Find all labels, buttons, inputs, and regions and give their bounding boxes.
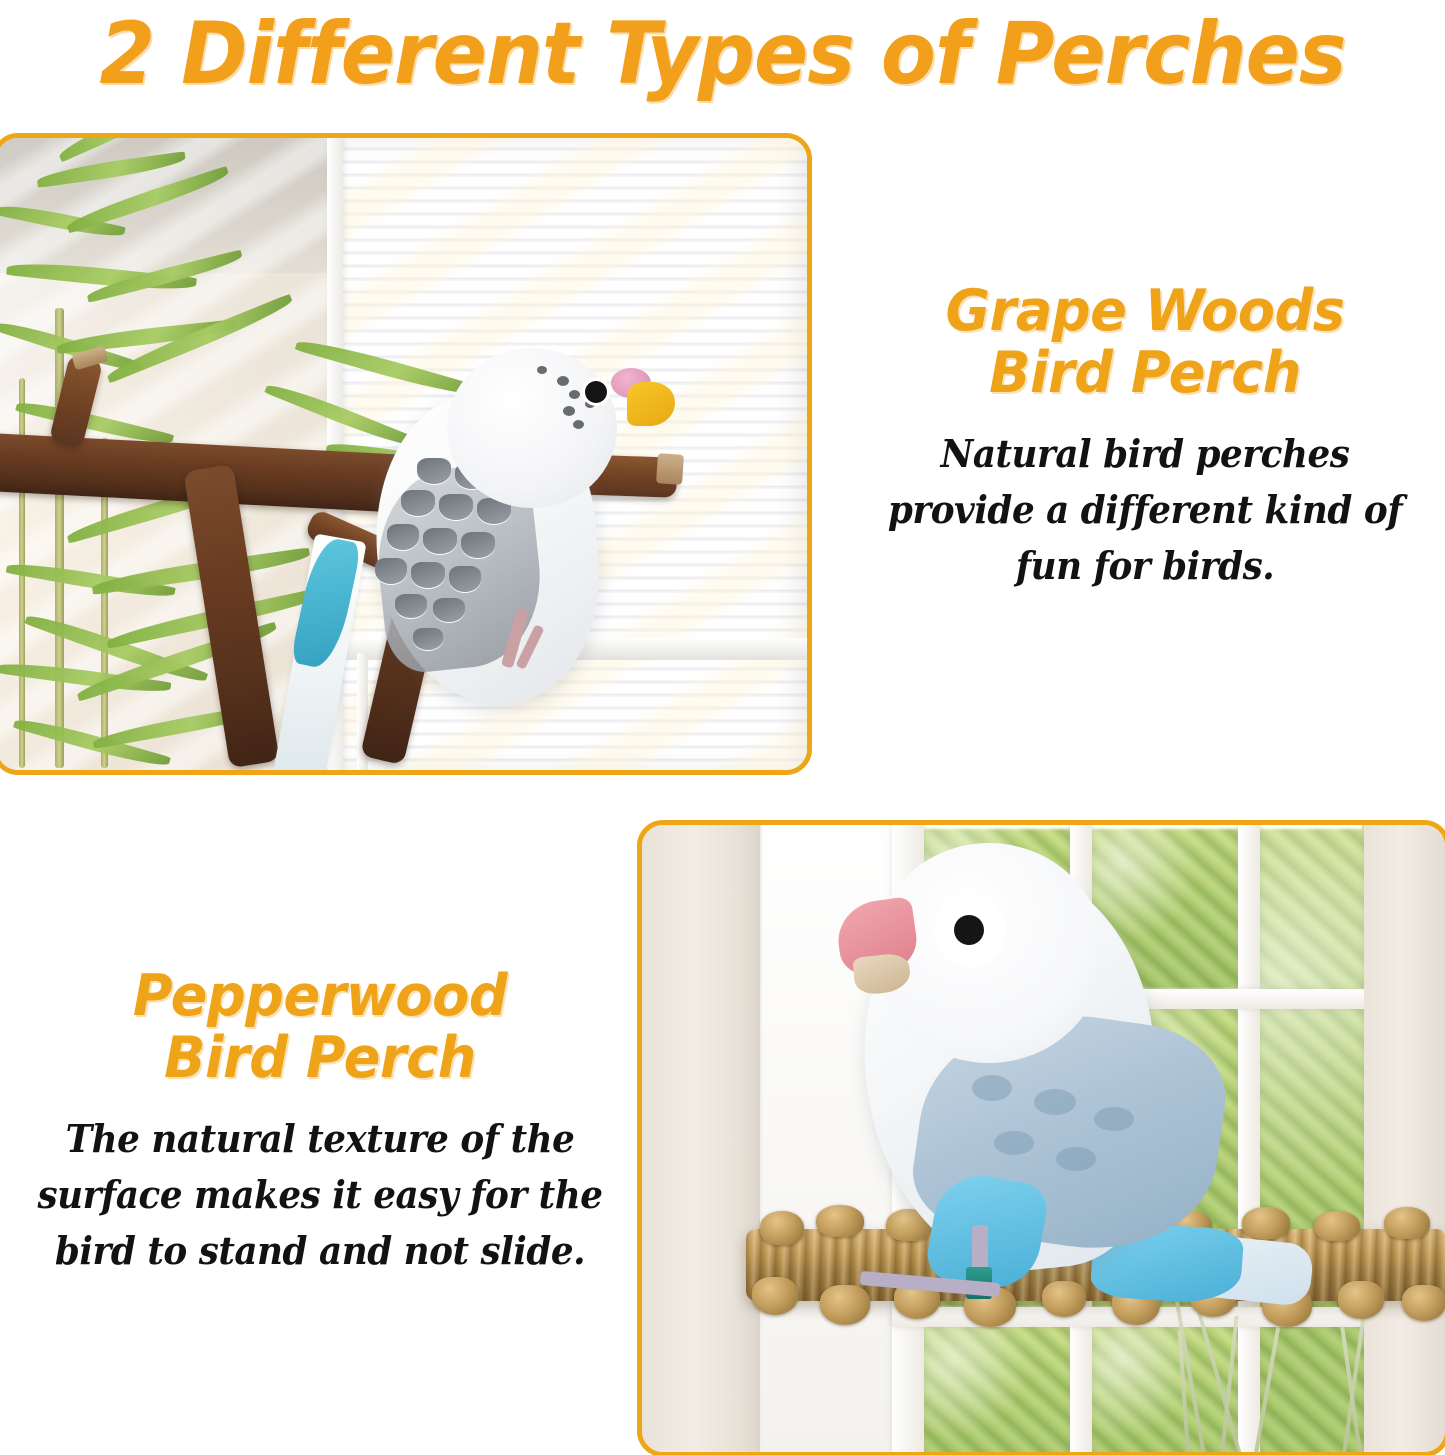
grape-woods-text-block: Grape Woods Bird Perch Natural bird perc… [845,280,1445,594]
page-title: 2 Different Types of Perches [51,6,1395,102]
pepperwood-heading: Pepperwood Bird Perch [30,965,610,1089]
product-infographic: 2 Different Types of Perches [0,0,1445,1455]
pepperwood-description: The natural texture of the surface makes… [33,1111,606,1279]
grape-woods-heading: Grape Woods Bird Perch [860,280,1430,404]
pepperwood-heading-line2: Bird Perch [30,1027,610,1089]
pepperwood-heading-line1: Pepperwood [30,965,610,1027]
left-wall-panel [642,825,760,1452]
pepperwood-photo-frame [637,820,1445,1455]
grape-woods-photo [0,138,807,770]
pepperwood-photo [642,825,1445,1452]
right-wall-panel [1364,825,1445,1452]
grape-woods-heading-line1: Grape Woods [860,280,1430,342]
grape-woods-photo-frame [0,133,812,775]
pepperwood-text-block: Pepperwood Bird Perch The natural textur… [15,965,625,1279]
grape-woods-heading-line2: Bird Perch [860,342,1430,404]
grape-woods-description: Natural bird perches provide a different… [863,426,1427,594]
